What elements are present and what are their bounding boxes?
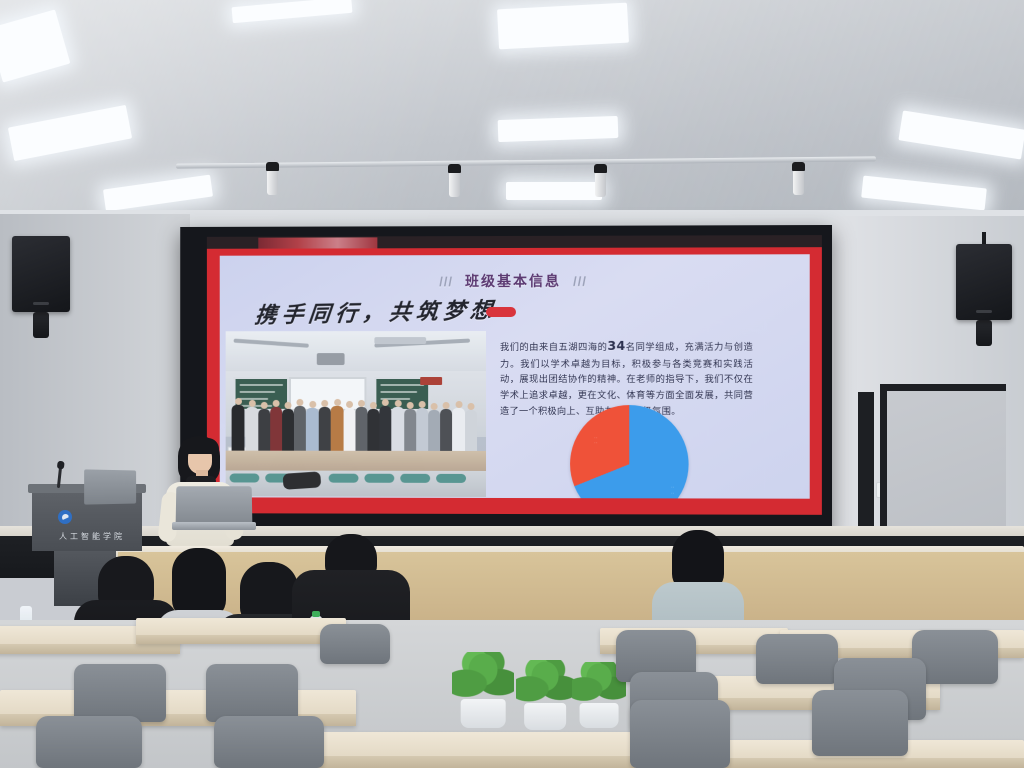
pie-label-segment-1: ···· [671, 485, 674, 496]
class-group-photo [226, 331, 486, 497]
classroom-chair[interactable] [630, 700, 730, 768]
podium-monitor [84, 469, 136, 504]
calligraphy-heading: 携手同行，共筑梦想 [253, 292, 498, 329]
ceiling-panel-light [497, 3, 629, 50]
slide-header: /// 班级基本信息 /// [220, 270, 810, 291]
ceiling-panel-light [498, 116, 619, 142]
track-spotlight [448, 164, 461, 197]
student-count: 34 [607, 338, 625, 353]
slash-decoration-left: /// [439, 274, 453, 289]
pie-label-segment-2: ···· [594, 435, 597, 446]
classroom-chair[interactable] [756, 634, 838, 684]
accent-pill [486, 307, 516, 317]
classroom-chair[interactable] [36, 716, 142, 768]
track-spotlight [266, 162, 279, 195]
classroom-scene: /// 班级基本信息 /// 携手同行，共筑梦想 [0, 0, 1024, 768]
podium-institution-label: 人工智能学院 [48, 531, 136, 542]
ceiling [0, 0, 1024, 232]
photo-people-row [226, 389, 486, 451]
led-display-screen[interactable]: /// 班级基本信息 /// 携手同行，共筑梦想 [180, 225, 832, 537]
presenter-laptop[interactable] [172, 486, 256, 530]
classroom-chair[interactable] [320, 624, 390, 664]
classroom-chair[interactable] [206, 664, 298, 722]
ai-college-logo [58, 510, 72, 524]
track-spotlight [792, 162, 805, 195]
presentation-slide: /// 班级基本信息 /// 携手同行，共筑梦想 [220, 254, 810, 498]
ceiling-panel-light [506, 182, 602, 200]
potted-plant [452, 652, 514, 728]
wall-speaker-left [12, 236, 70, 338]
track-spotlight [594, 164, 607, 197]
slide-title-text: 班级基本信息 [465, 271, 561, 291]
classroom-chair[interactable] [812, 690, 908, 756]
wall-speaker-right [956, 232, 1012, 346]
slash-decoration-right: /// [573, 273, 587, 288]
student-desk [136, 618, 346, 644]
potted-plant [516, 660, 574, 730]
slide-top-decoration [258, 237, 377, 248]
body-prefix: 我们的由来自五湖四海的 [500, 342, 607, 353]
classroom-chair[interactable] [74, 664, 166, 722]
classroom-chair[interactable] [214, 716, 324, 768]
slide-red-frame: /// 班级基本信息 /// 携手同行，共筑梦想 [207, 235, 822, 515]
